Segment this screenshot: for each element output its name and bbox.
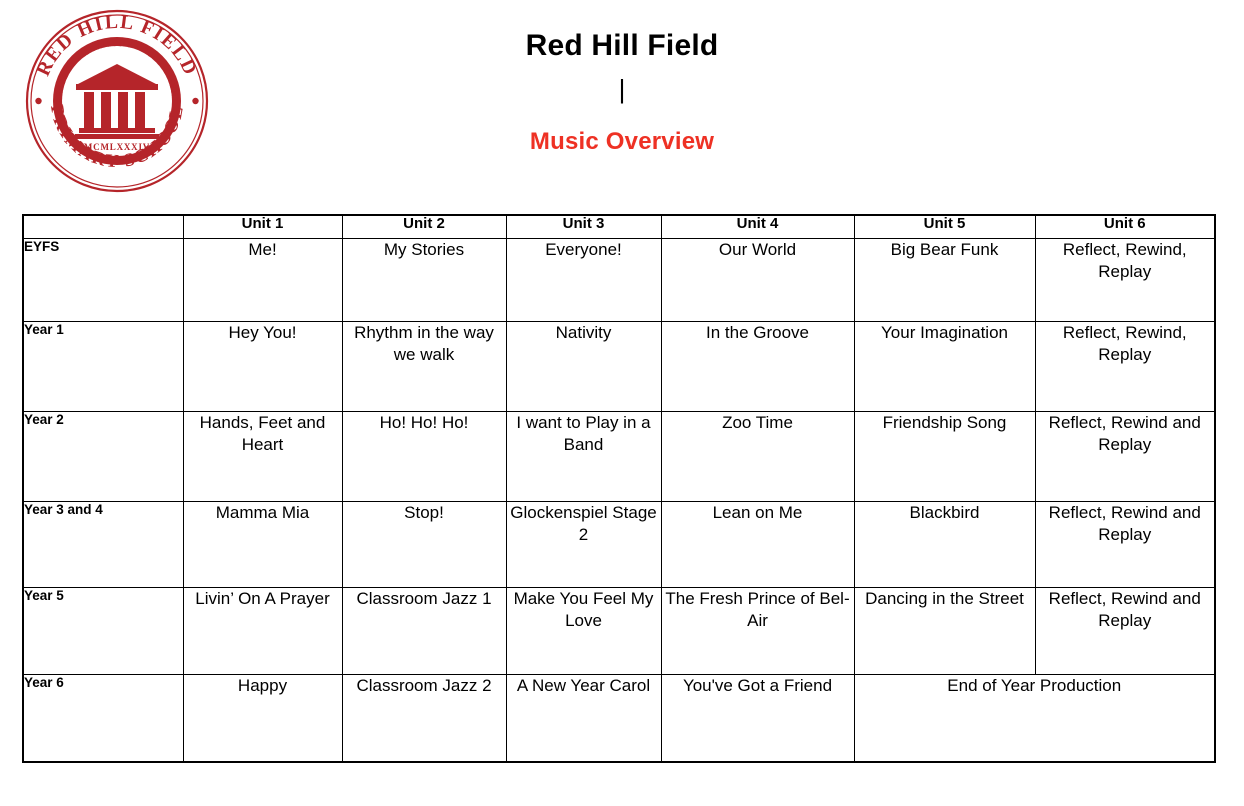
cell-year-1-unit-1: Hey You! [183,322,342,412]
cell-year-6-unit-1: Happy [183,675,342,763]
table-row-year-2: Year 2 Hands, Feet and Heart Ho! Ho! Ho!… [23,412,1215,502]
cell-eyfs-unit-5: Big Bear Funk [854,239,1035,322]
cell-year-1-unit-6: Reflect, Rewind, Replay [1035,322,1215,412]
column-header-unit-4: Unit 4 [661,215,854,239]
cell-year-2-unit-6: Reflect, Rewind and Replay [1035,412,1215,502]
music-overview-table-wrapper: Unit 1 Unit 2 Unit 3 Unit 4 Unit 5 Unit … [22,214,1214,763]
cell-eyfs-unit-3: Everyone! [506,239,661,322]
cell-year-2-unit-2: Ho! Ho! Ho! [342,412,506,502]
cell-year-3-and-4-unit-1: Mamma Mia [183,502,342,588]
column-header-unit-6: Unit 6 [1035,215,1215,239]
table-row-year-1: Year 1 Hey You! Rhythm in the way we wal… [23,322,1215,412]
cell-year-6-end-of-year-production: End of Year Production [854,675,1215,763]
cell-year-5-unit-6: Reflect, Rewind and Replay [1035,588,1215,675]
cell-year-5-unit-5: Dancing in the Street [854,588,1035,675]
cell-year-1-unit-4: In the Groove [661,322,854,412]
column-header-unit-3: Unit 3 [506,215,661,239]
cell-year-1-unit-5: Your Imagination [854,322,1035,412]
cell-year-3-and-4-unit-3: Glockenspiel Stage 2 [506,502,661,588]
svg-text:MCMLXXXIV: MCMLXXXIV [84,142,150,152]
row-label-year-3-and-4: Year 3 and 4 [23,502,183,588]
row-label-eyfs: EYFS [23,239,183,322]
row-label-year-1: Year 1 [23,322,183,412]
cell-year-6-unit-2: Classroom Jazz 2 [342,675,506,763]
cell-year-1-unit-2: Rhythm in the way we walk [342,322,506,412]
row-label-year-5: Year 5 [23,588,183,675]
column-header-unit-2: Unit 2 [342,215,506,239]
cell-eyfs-unit-1: Me! [183,239,342,322]
music-overview-table: Unit 1 Unit 2 Unit 3 Unit 4 Unit 5 Unit … [22,214,1216,763]
page-header: RED HILL FIELD PRIMARY SCHOOL RESPECT · … [0,0,1244,212]
table-row-year-5: Year 5 Livin’ On A Prayer Classroom Jazz… [23,588,1215,675]
cell-year-2-unit-3: I want to Play in a Band [506,412,661,502]
cell-year-5-unit-2: Classroom Jazz 1 [342,588,506,675]
column-header-year [23,215,183,239]
cell-year-3-and-4-unit-5: Blackbird [854,502,1035,588]
table-row-eyfs: EYFS Me! My Stories Everyone! Our World … [23,239,1215,322]
header-row: Unit 1 Unit 2 Unit 3 Unit 4 Unit 5 Unit … [23,215,1215,239]
cell-year-3-and-4-unit-2: Stop! [342,502,506,588]
cell-year-1-unit-3: Nativity [506,322,661,412]
row-label-year-2: Year 2 [23,412,183,502]
row-label-year-6: Year 6 [23,675,183,763]
column-header-unit-1: Unit 1 [183,215,342,239]
cell-year-6-unit-4: You've Got a Friend [661,675,854,763]
table-row-year-3-and-4: Year 3 and 4 Mamma Mia Stop! Glockenspie… [23,502,1215,588]
cell-year-2-unit-4: Zoo Time [661,412,854,502]
cell-year-3-and-4-unit-6: Reflect, Rewind and Replay [1035,502,1215,588]
table-body: EYFS Me! My Stories Everyone! Our World … [23,239,1215,763]
cell-year-3-and-4-unit-4: Lean on Me [661,502,854,588]
table-header: Unit 1 Unit 2 Unit 3 Unit 4 Unit 5 Unit … [23,215,1215,239]
cell-year-2-unit-1: Hands, Feet and Heart [183,412,342,502]
cell-eyfs-unit-4: Our World [661,239,854,322]
cell-year-5-unit-1: Livin’ On A Prayer [183,588,342,675]
cell-year-5-unit-4: The Fresh Prince of Bel-Air [661,588,854,675]
cell-eyfs-unit-6: Reflect, Rewind, Replay [1035,239,1215,322]
cell-year-5-unit-3: Make You Feel My Love [506,588,661,675]
cell-year-6-unit-3: A New Year Carol [506,675,661,763]
column-header-unit-5: Unit 5 [854,215,1035,239]
cell-year-2-unit-5: Friendship Song [854,412,1035,502]
table-row-year-6: Year 6 Happy Classroom Jazz 2 A New Year… [23,675,1215,763]
cell-eyfs-unit-2: My Stories [342,239,506,322]
school-crest-logo: RED HILL FIELD PRIMARY SCHOOL RESPECT · … [24,8,210,194]
